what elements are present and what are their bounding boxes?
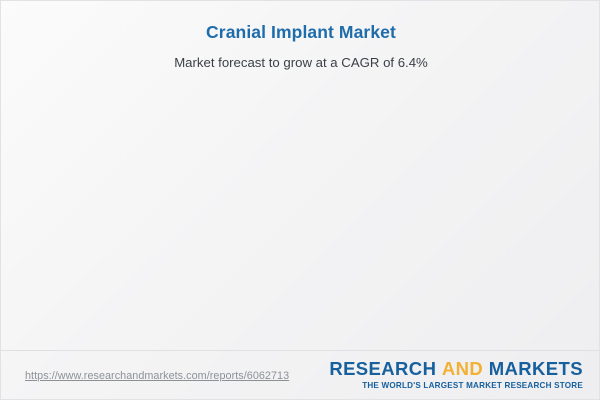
logo-wordmark: RESEARCH AND MARKETS	[329, 358, 583, 379]
chart-plot-area: USD 1.6 Billion	[1, 1, 600, 346]
chart-infographic: Cranial Implant Market Market forecast t…	[0, 0, 600, 400]
research-and-markets-logo[interactable]: RESEARCH AND MARKETS THE WORLD'S LARGEST…	[329, 358, 583, 391]
logo-tagline: THE WORLD'S LARGEST MARKET RESEARCH STOR…	[329, 379, 583, 391]
chart-footer: https://www.researchandmarkets.com/repor…	[1, 351, 600, 400]
logo-word-markets: MARKETS	[489, 358, 583, 379]
source-url-link[interactable]: https://www.researchandmarkets.com/repor…	[25, 370, 289, 382]
logo-word-research: RESEARCH	[329, 358, 436, 379]
logo-word-and: AND	[442, 358, 483, 379]
